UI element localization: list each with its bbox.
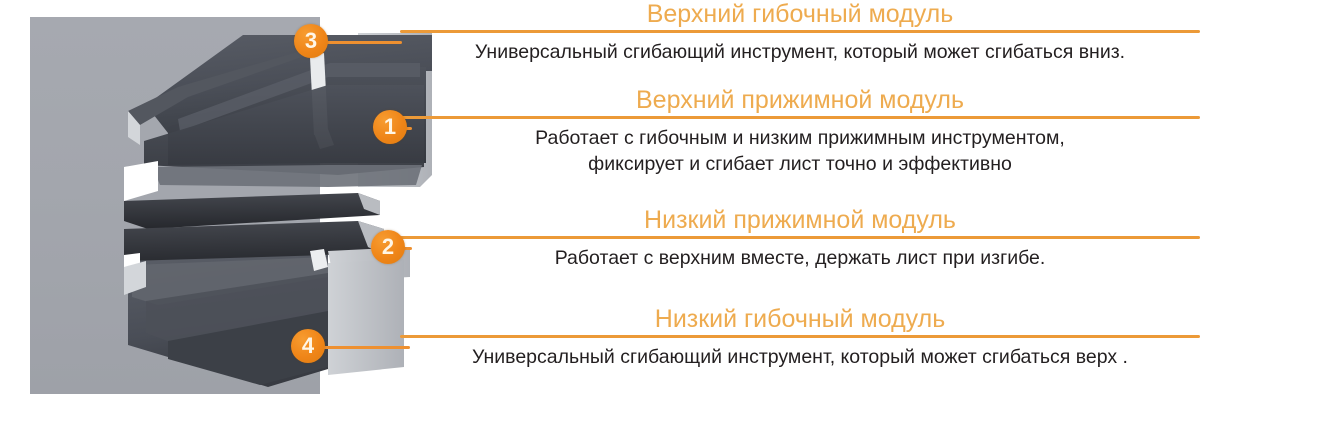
description-line: Работает с верхним вместе, держать лист …	[400, 245, 1200, 271]
module-block-lower-clamping: Низкий прижимной модуль Работает с верхн…	[400, 206, 1200, 271]
module-divider	[400, 116, 1200, 119]
module-badge-4[interactable]: 4	[291, 329, 325, 363]
description-line: фиксирует и сгибает лист точно и эффекти…	[400, 151, 1200, 177]
tooling-drawing	[28, 15, 448, 396]
module-badge-3[interactable]: 3	[294, 24, 328, 58]
press-brake-tooling-illustration	[30, 17, 320, 394]
module-block-lower-bending: Низкий гибочный модуль Универсальный сги…	[400, 305, 1200, 370]
module-description: Универсальный сгибающий инструмент, кото…	[400, 39, 1200, 65]
module-title: Верхний прижимной модуль	[400, 86, 1200, 114]
module-divider	[400, 30, 1200, 33]
module-badge-1[interactable]: 1	[373, 110, 407, 144]
description-line: Универсальный сгибающий инструмент, кото…	[400, 39, 1200, 65]
module-badge-2[interactable]: 2	[371, 230, 405, 264]
module-title: Верхний гибочный модуль	[400, 0, 1200, 28]
module-block-upper-clamping: Верхний прижимной модуль Работает с гибо…	[400, 86, 1200, 177]
module-divider	[400, 335, 1200, 338]
description-line: Универсальный сгибающий инструмент, кото…	[400, 344, 1200, 370]
module-description: Работает с верхним вместе, держать лист …	[400, 245, 1200, 271]
module-divider	[400, 236, 1200, 239]
infographic-page: 3 1 2 4 Верхний гибочный модуль Универса…	[0, 0, 1320, 424]
description-line: Работает с гибочным и низким прижимным и…	[400, 125, 1200, 151]
module-title: Низкий гибочный модуль	[400, 305, 1200, 333]
module-description: Универсальный сгибающий инструмент, кото…	[400, 344, 1200, 370]
module-description: Работает с гибочным и низким прижимным и…	[400, 125, 1200, 177]
module-title: Низкий прижимной модуль	[400, 206, 1200, 234]
module-block-upper-bending: Верхний гибочный модуль Универсальный сг…	[400, 0, 1200, 65]
connector-line-3	[322, 41, 402, 44]
tooling-svg	[28, 15, 448, 396]
connector-line-4	[320, 346, 410, 349]
